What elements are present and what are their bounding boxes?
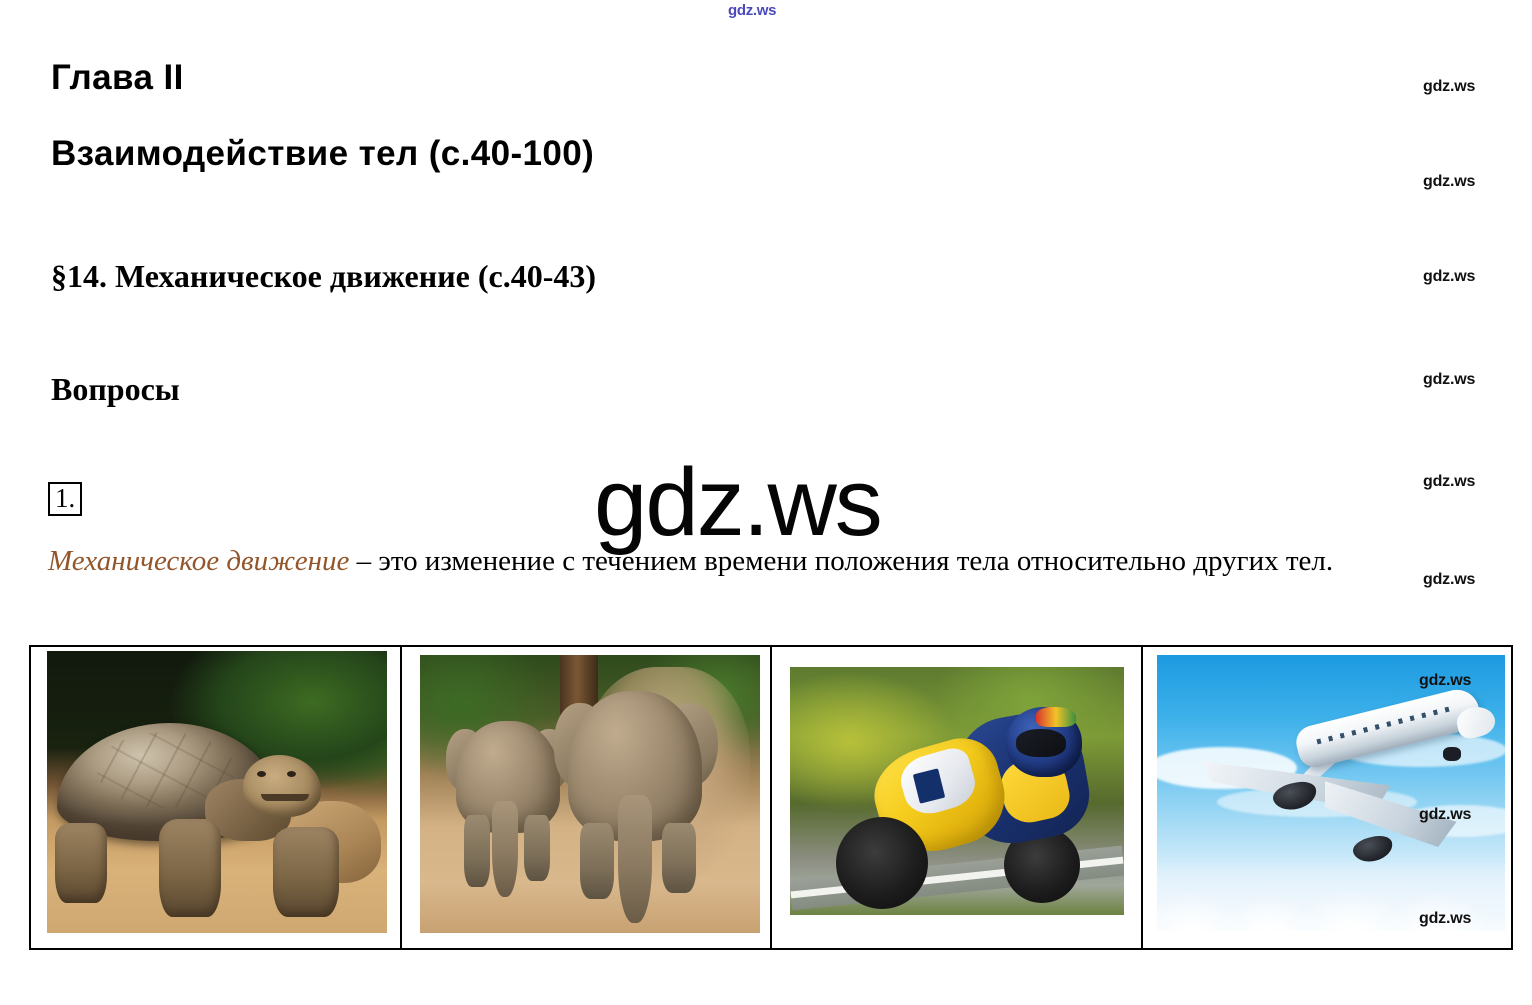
watermark-side-1: gdz.ws bbox=[1423, 78, 1475, 96]
elephant-large-trunk bbox=[618, 795, 652, 923]
helmet-visor bbox=[1016, 729, 1066, 757]
elephant-small-leg-left bbox=[464, 815, 490, 887]
watermark-image-1: gdz.ws bbox=[1419, 672, 1471, 690]
watermark-side-5: gdz.ws bbox=[1423, 473, 1475, 491]
tortoise-photo bbox=[47, 651, 387, 933]
watermark-image-3: gdz.ws bbox=[1419, 910, 1471, 928]
question-number-box: 1. bbox=[48, 482, 82, 516]
tortoise-leg-front-right bbox=[273, 827, 339, 917]
illustration-cell-tortoise bbox=[31, 647, 402, 948]
illustration-table bbox=[29, 645, 1513, 950]
watermark-side-6: gdz.ws bbox=[1423, 571, 1475, 589]
watermark-side-2: gdz.ws bbox=[1423, 173, 1475, 191]
elephant-small-trunk bbox=[492, 801, 518, 897]
tortoise-leg-rear bbox=[55, 823, 107, 903]
elephant-large-leg-left bbox=[580, 823, 614, 899]
illustration-cell-motorcycle bbox=[772, 647, 1143, 948]
helmet-stripe bbox=[1036, 707, 1076, 727]
elephant-small-leg-right bbox=[524, 815, 550, 881]
chapter-title: Взаимодействие тел (с.40-100) bbox=[51, 134, 594, 174]
section-title: §14. Механическое движение (с.40-43) bbox=[51, 258, 596, 295]
watermark-top: gdz.ws bbox=[728, 2, 776, 19]
elephants-photo bbox=[420, 655, 760, 933]
watermark-side-3: gdz.ws bbox=[1423, 268, 1475, 286]
watermark-large-center: gdz.ws bbox=[594, 455, 881, 551]
airplane-photo bbox=[1157, 655, 1505, 931]
tortoise-head bbox=[243, 755, 321, 817]
chapter-number: Глава II bbox=[51, 58, 184, 98]
illustration-cell-airplane bbox=[1143, 647, 1512, 948]
illustration-cell-elephants bbox=[402, 647, 773, 948]
questions-heading: Вопросы bbox=[51, 371, 180, 408]
term-mechanical-motion: Механическое движение bbox=[48, 545, 349, 577]
elephant-large-leg-right bbox=[662, 823, 696, 893]
tortoise-mouth bbox=[261, 794, 309, 801]
watermark-side-4: gdz.ws bbox=[1423, 371, 1475, 389]
motorcycle-front-wheel bbox=[836, 817, 928, 909]
watermark-image-2: gdz.ws bbox=[1419, 806, 1471, 824]
airplane-landing-gear bbox=[1443, 747, 1461, 761]
tortoise-leg-front-left bbox=[159, 819, 221, 917]
motorcycle-photo bbox=[790, 667, 1124, 915]
